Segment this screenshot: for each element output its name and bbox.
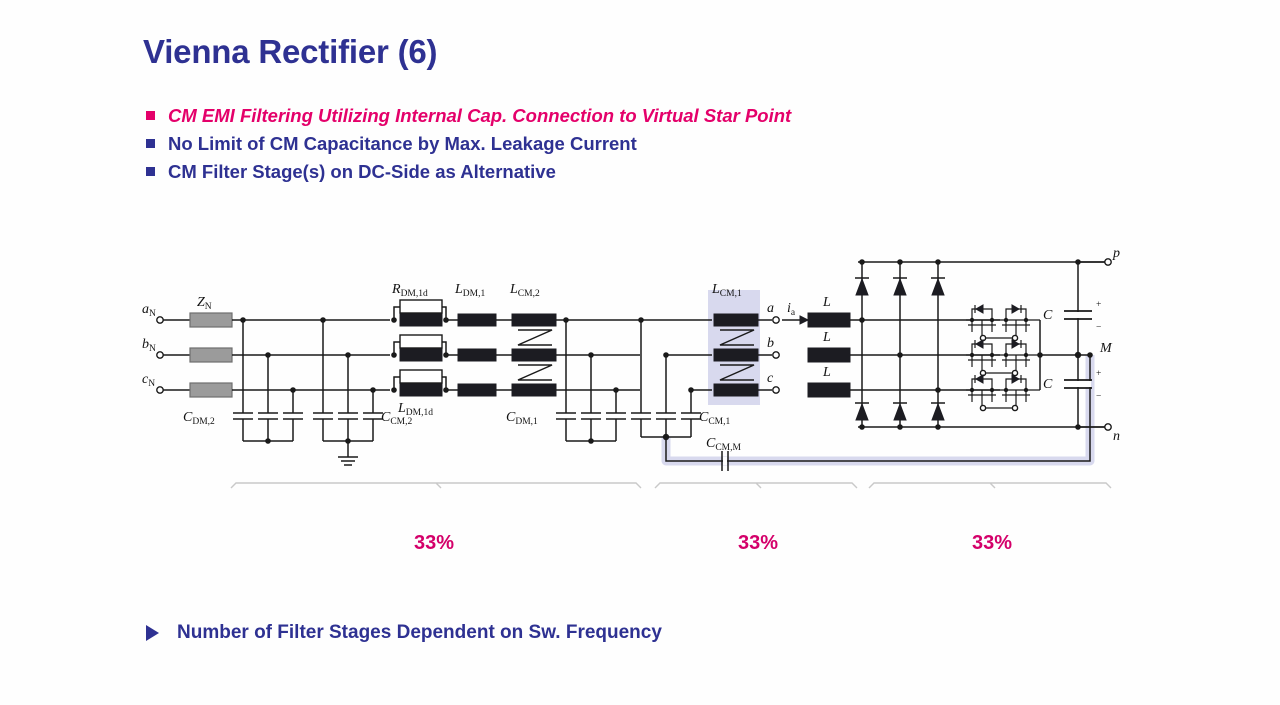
label-terminal-b: b: [767, 336, 774, 351]
bullet-square-icon: [146, 139, 155, 148]
cm-choke-2-group: [512, 314, 640, 396]
terminal-b: [773, 352, 779, 358]
bullet-square-icon: [146, 167, 155, 176]
label-polarity-minus-upper: −: [1096, 323, 1101, 333]
circuit-diagram: .w{stroke:#1a1a1a;stroke-width:1.5;fill:…: [0, 235, 1280, 565]
triangle-bullet-icon: [146, 625, 159, 641]
label-boost-inductor-a: L: [822, 295, 831, 310]
diode-upper-c: [932, 279, 944, 295]
impedance-zn-b: [190, 348, 232, 362]
damping-inductor-c: [400, 384, 442, 396]
stage-percent-2: 33%: [738, 532, 778, 555]
cap-bank-dm-1: [556, 317, 626, 444]
cm-choke-1-group: [714, 314, 772, 396]
label-cm-choke-2: LCM,2: [509, 282, 540, 299]
cm-choke-2-winding-b: [512, 349, 556, 361]
damping-inductor-a: [400, 314, 442, 326]
terminal-a: [773, 317, 779, 323]
label-terminal-b-n: bN: [142, 337, 156, 354]
bullet-text: CM EMI Filtering Utilizing Internal Cap.…: [168, 105, 791, 127]
bullet-text: CM Filter Stage(s) on DC-Side as Alterna…: [168, 161, 556, 183]
slide-canvas: Vienna Rectifier (6) CM EMI Filtering Ut…: [0, 0, 1280, 705]
damping-resistor-c: [400, 370, 442, 383]
dm-inductor-1-group: [458, 314, 512, 396]
bidirectional-switch-array: [966, 305, 1090, 411]
terminal-p: [1105, 259, 1111, 265]
diode-lower-c: [932, 404, 944, 420]
cm-choke-1-winding-a: [714, 314, 758, 326]
label-terminal-m: M: [1099, 341, 1113, 356]
cap-bank-cm-2: [313, 317, 383, 465]
boost-inductor-c: [808, 383, 850, 397]
label-terminal-c: c: [767, 371, 774, 386]
cap-bank-dm-2: [233, 317, 303, 444]
dm-inductor-1-a: [458, 314, 496, 326]
damping-inductor-b: [400, 349, 442, 361]
input-section: [157, 313, 390, 397]
cm-choke-2-coupling-1: [518, 330, 552, 345]
terminal-c-n: [157, 387, 163, 393]
label-dm-inductor-1: LDM,1: [454, 282, 485, 299]
label-cap-cm-m: CCM,M: [706, 436, 742, 453]
terminal-n: [1105, 424, 1111, 430]
stage-percent-1: 33%: [414, 532, 454, 555]
label-polarity-plus-upper: +: [1096, 300, 1101, 310]
damping-network: [391, 300, 458, 396]
label-terminal-p: p: [1112, 246, 1120, 261]
label-dc-cap-upper: C: [1043, 308, 1053, 323]
impedance-zn-a: [190, 313, 232, 327]
bullet-square-icon: [146, 111, 155, 120]
cm-choke-2-winding-c: [512, 384, 556, 396]
label-cm-choke-1: LCM,1: [711, 282, 742, 299]
damping-resistor-b: [400, 335, 442, 348]
cm-choke-2-winding-a: [512, 314, 556, 326]
bullet-text: No Limit of CM Capacitance by Max. Leaka…: [168, 133, 637, 155]
diode-upper-b: [894, 279, 906, 295]
label-dc-cap-lower: C: [1043, 377, 1053, 392]
diode-upper-a: [856, 279, 868, 295]
brace-stage-3: [869, 483, 1111, 488]
boost-inductor-b: [808, 348, 850, 362]
switch-cell-a: [966, 305, 1040, 341]
diode-lower-a: [856, 404, 868, 420]
label-polarity-minus-lower: −: [1096, 392, 1101, 402]
brace-stage-2: [655, 483, 857, 488]
bullet-item-3: CM Filter Stage(s) on DC-Side as Alterna…: [146, 161, 791, 185]
bottom-note-text: Number of Filter Stages Dependent on Sw.…: [177, 622, 662, 644]
diode-lower-b: [894, 404, 906, 420]
terminal-c: [773, 387, 779, 393]
boost-inductor-a: [808, 313, 850, 327]
bullet-item-1: CM EMI Filtering Utilizing Internal Cap.…: [146, 105, 791, 129]
label-damping-inductor: LDM,1d: [397, 401, 433, 418]
damping-resistor-a: [400, 300, 442, 313]
label-boost-inductor-c: L: [822, 365, 831, 380]
label-terminal-a-n: aN: [142, 302, 156, 319]
switch-cell-b: [966, 340, 1040, 376]
cm-choke-2-coupling-2: [518, 365, 552, 380]
terminal-a-n: [157, 317, 163, 323]
dm-inductor-1-c: [458, 384, 496, 396]
label-boost-inductor-b: L: [822, 330, 831, 345]
page-title: Vienna Rectifier (6): [143, 33, 437, 71]
label-terminal-n: n: [1113, 429, 1120, 444]
label-impedance-zn: ZN: [197, 295, 212, 312]
label-current-ia: ia: [787, 301, 796, 318]
dm-inductor-1-b: [458, 349, 496, 361]
bullet-list: CM EMI Filtering Utilizing Internal Cap.…: [146, 105, 791, 189]
label-terminal-c-n: cN: [142, 372, 155, 389]
label-cap-cm-1: CCM,1: [699, 410, 731, 427]
bullet-item-2: No Limit of CM Capacitance by Max. Leaka…: [146, 133, 791, 157]
cm-choke-1-winding-b: [714, 349, 758, 361]
label-polarity-plus-lower: +: [1096, 369, 1101, 379]
label-cap-dm-2: CDM,2: [183, 410, 215, 427]
cm-choke-1-winding-c: [714, 384, 758, 396]
switch-cell-c: [966, 375, 1040, 411]
label-damping-resistor: RDM,1d: [391, 282, 428, 299]
bottom-note: Number of Filter Stages Dependent on Sw.…: [146, 622, 662, 644]
stage-percent-3: 33%: [972, 532, 1012, 555]
label-terminal-a: a: [767, 301, 774, 316]
impedance-zn-c: [190, 383, 232, 397]
brace-stage-1: [231, 483, 641, 488]
terminal-b-n: [157, 352, 163, 358]
label-cap-dm-1: CDM,1: [506, 410, 538, 427]
